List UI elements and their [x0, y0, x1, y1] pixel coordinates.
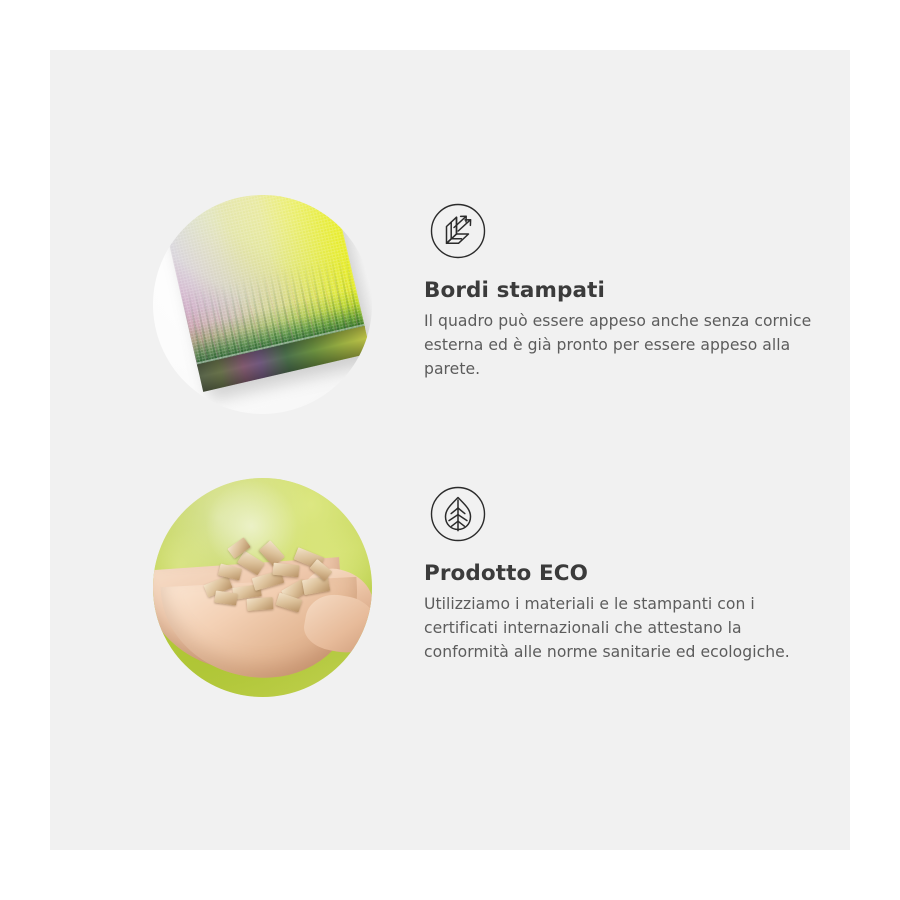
- eco-photo-background: [153, 478, 372, 697]
- wood-chip-pile: [199, 534, 337, 624]
- printed-edges-icon: [430, 203, 486, 259]
- feature-title: Prodotto ECO: [424, 561, 824, 586]
- canvas-block: [159, 195, 371, 392]
- feature-title: Bordi stampati: [424, 278, 824, 303]
- feature-description: Il quadro può essere appeso anche senza …: [424, 309, 824, 381]
- wood-chips-in-hands-photo: [153, 478, 372, 697]
- feature-text-prodotto-eco: Prodotto ECO Utilizziamo i materiali e l…: [424, 561, 824, 664]
- content-panel: Bordi stampati Il quadro può essere appe…: [50, 50, 850, 850]
- feature-text-bordi-stampati: Bordi stampati Il quadro può essere appe…: [424, 278, 824, 381]
- canvas-photo-backdrop: [153, 195, 372, 414]
- canvas-corner-photo: [153, 195, 372, 414]
- leaf-icon: [430, 486, 486, 542]
- feature-description: Utilizziamo i materiali e le stampanti c…: [424, 592, 824, 664]
- product-feature-page: Bordi stampati Il quadro può essere appe…: [0, 0, 900, 900]
